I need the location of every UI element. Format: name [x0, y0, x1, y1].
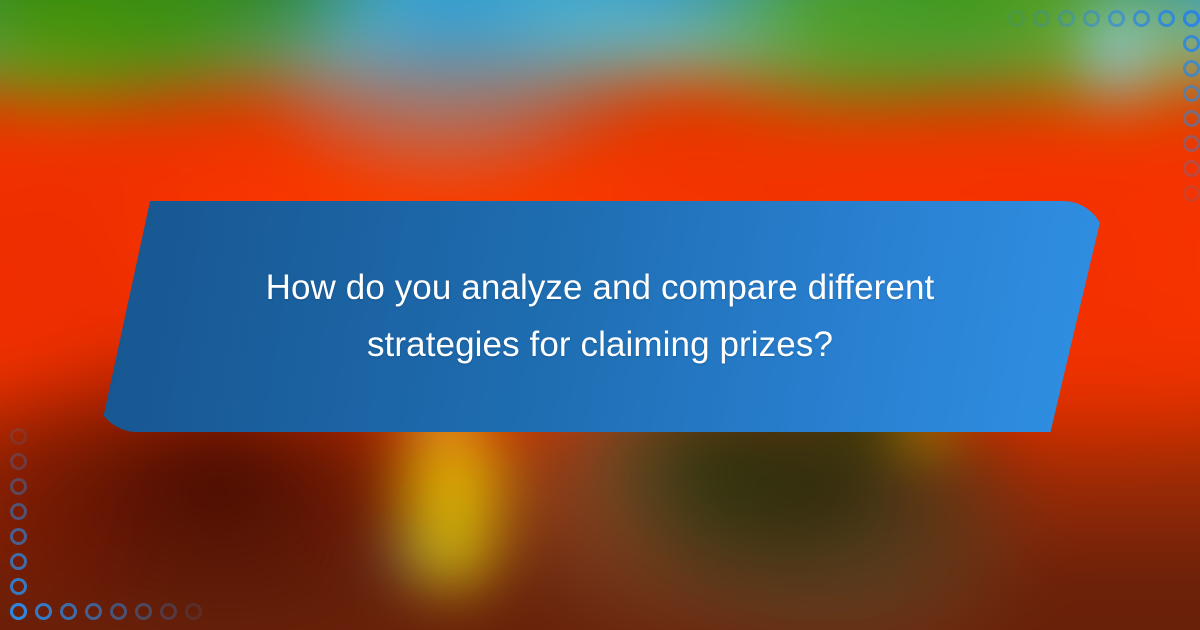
- decor-dot: [60, 603, 77, 620]
- decor-dot: [1183, 35, 1200, 52]
- decor-dot: [1183, 135, 1200, 152]
- decor-dot: [160, 603, 177, 620]
- question-card: How do you analyze and compare different…: [95, 201, 1105, 432]
- decor-dot: [1133, 10, 1150, 27]
- decor-dot: [1008, 10, 1025, 27]
- decor-dot: [35, 603, 52, 620]
- question-text-block: How do you analyze and compare different…: [95, 201, 1105, 432]
- decor-dot: [1033, 10, 1050, 27]
- decor-dot: [1183, 110, 1200, 127]
- decor-dot: [10, 503, 27, 520]
- decor-dot: [10, 453, 27, 470]
- decor-dot: [1058, 10, 1075, 27]
- decor-dot: [10, 478, 27, 495]
- question-line-1: How do you analyze and compare different: [245, 260, 955, 317]
- decor-dot: [110, 603, 127, 620]
- decor-dot: [1183, 60, 1200, 77]
- decor-dot: [1183, 10, 1200, 27]
- question-line-2: strategies for claiming prizes?: [245, 317, 955, 374]
- screenshot-canvas: How do you analyze and compare different…: [0, 0, 1200, 630]
- decor-dot: [10, 578, 27, 595]
- decor-dot: [1108, 10, 1125, 27]
- decor-dot: [10, 428, 27, 445]
- decor-dot: [10, 528, 27, 545]
- decor-dot: [1183, 185, 1200, 202]
- decor-dot: [135, 603, 152, 620]
- decor-dot: [1083, 10, 1100, 27]
- decor-dot: [1183, 85, 1200, 102]
- decor-dot: [10, 553, 27, 570]
- decor-dot: [1183, 160, 1200, 177]
- decor-dot: [1158, 10, 1175, 27]
- decor-dot: [185, 603, 202, 620]
- decor-dot: [85, 603, 102, 620]
- decor-dot: [10, 603, 27, 620]
